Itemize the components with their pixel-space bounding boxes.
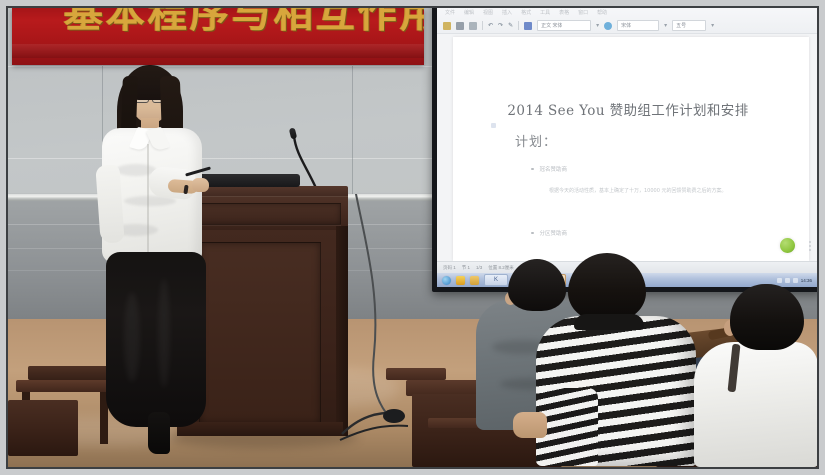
presenter-hand (192, 178, 209, 192)
audience-striped-collar (574, 314, 644, 330)
photo-inner-border: 基本程序与相互作用 文件 编辑 视图 插入 格式 工具 表格 (6, 6, 819, 469)
audience-white-head (730, 284, 804, 350)
desk-left-front (8, 400, 78, 456)
presenter-shirt-placket (147, 144, 149, 254)
photo-frame: 基本程序与相互作用 文件 编辑 视图 插入 格式 工具 表格 (0, 0, 825, 475)
floor-cable-bundle (338, 400, 428, 446)
presenter-skirt (106, 252, 206, 427)
skirt-fold-2 (158, 278, 170, 388)
hanging-cable (350, 194, 410, 424)
classroom-scene: 基本程序与相互作用 文件 编辑 视图 插入 格式 工具 表格 (8, 8, 817, 467)
skirt-fold-1 (124, 292, 140, 382)
audience-striped-head (568, 253, 646, 321)
audience-grey-head (508, 259, 566, 311)
presenter-boot (148, 412, 170, 454)
audience-white-shirt (694, 342, 817, 467)
audience-striped-hand (513, 412, 547, 438)
presenter (92, 60, 227, 460)
